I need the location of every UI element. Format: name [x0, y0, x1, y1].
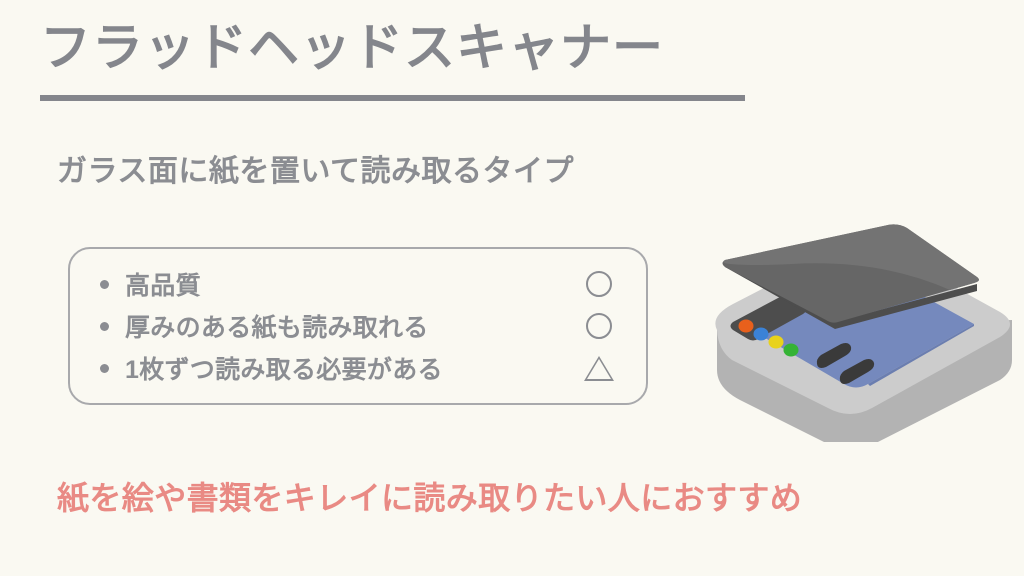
feature-box: 高品質 厚みのある紙も読み取れる 1枚ずつ読み取る必要がある — [68, 247, 648, 405]
bullet-dot-icon — [100, 322, 109, 331]
feature-label: 高品質 — [125, 266, 201, 302]
list-item: 高品質 — [70, 263, 646, 305]
subtitle: ガラス面に紙を置いて読み取るタイプ — [57, 146, 574, 190]
bullet-dot-icon — [100, 280, 109, 289]
feature-rating-mark — [576, 271, 622, 297]
bullet-dot-icon — [100, 364, 109, 373]
button-yellow-icon[interactable] — [769, 336, 784, 349]
recommendation-text: 紙を絵や書類をキレイに読み取りたい人におすすめ — [57, 473, 802, 519]
circle-icon — [586, 313, 612, 339]
feature-list: 高品質 厚みのある紙も読み取れる 1枚ずつ読み取る必要がある — [70, 249, 646, 403]
page-title: フラッドヘッドスキャナー — [40, 16, 664, 80]
flatbed-scanner-illustration — [700, 212, 1024, 442]
feature-label: 厚みのある紙も読み取れる — [125, 308, 429, 344]
list-item: 厚みのある紙も読み取れる — [70, 305, 646, 347]
feature-label: 1枚ずつ読み取る必要がある — [125, 350, 443, 386]
slide-root: フラッドヘッドスキャナー ガラス面に紙を置いて読み取るタイプ 高品質 厚みのある… — [0, 0, 1024, 576]
list-item: 1枚ずつ読み取る必要がある — [70, 347, 646, 389]
feature-rating-mark — [576, 356, 622, 381]
button-blue-icon[interactable] — [754, 328, 769, 341]
button-green-icon[interactable] — [784, 344, 799, 357]
button-orange-icon[interactable] — [739, 320, 754, 333]
triangle-icon — [584, 356, 614, 381]
title-underline-rule — [40, 95, 745, 101]
feature-rating-mark — [576, 313, 622, 339]
circle-icon — [586, 271, 612, 297]
